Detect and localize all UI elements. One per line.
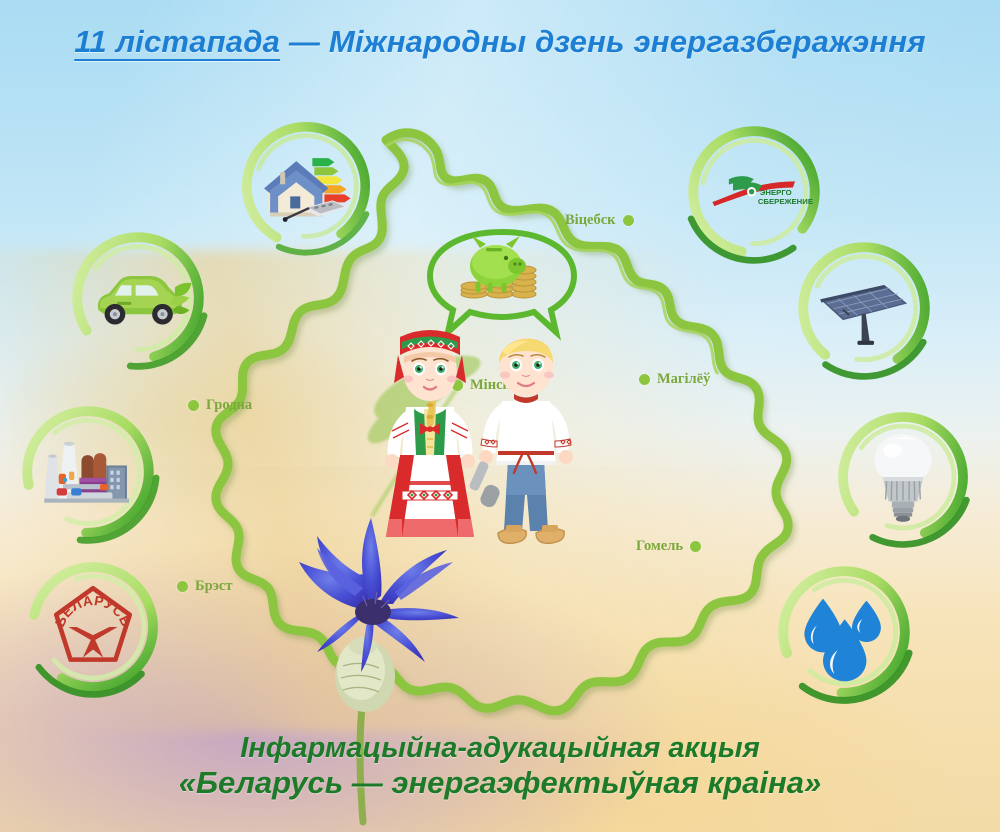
solar-pole [862,314,870,343]
svg-text:БЕЛАРУСЬ: БЕЛАРУСЬ [52,593,134,629]
city-name: Брэст [195,578,232,595]
city-label-4: Гомель [636,538,701,555]
campaign-line-2: «Беларусь — энергаэфектыўная краіна» [0,765,1000,802]
city-label-5: Брэст [177,578,232,595]
led-bulb-icon [852,426,954,528]
icon-ring-solar-panel[interactable] [788,232,940,384]
city-name: Гродна [206,397,252,414]
icon-ring-belarus-quality-mark[interactable]: БЕЛАРУСЬ [18,552,168,702]
city-label-1: Гродна [188,397,252,414]
city-dot-icon [690,541,701,552]
energosberezhenie-logo-icon: ЭНЕРГО СБЕРЕЖЕНИЕ [702,140,805,243]
title-date: 11 лістапада [74,24,280,59]
city-name: Віцебск [565,212,616,229]
eco-car-icon [86,246,189,349]
city-name: Магілёў [657,371,710,388]
eco-leaves-icon [171,283,192,314]
title-rest: — Міжнародны дзень энергазберажэння [280,24,926,59]
city-dot-icon [623,215,634,226]
bulb-base [892,501,914,521]
page-title-top: 11 лістапада — Міжнародны дзень энергазб… [0,24,1000,60]
icon-ring-water-drops[interactable] [768,556,920,708]
quality-mark-label: БЕЛАРУСЬ [52,593,134,629]
energy-efficient-house-icon [256,136,357,237]
water-drops-icon [792,580,895,683]
power-plant-icon [36,420,139,523]
city-label-0: Віцебск [565,212,634,229]
storage-tanks [80,453,109,498]
solar-panel-icon [812,256,915,359]
icon-ring-led-bulb[interactable] [828,402,978,552]
bulb-glass [874,434,931,477]
city-dot-icon [639,374,650,385]
campaign-line-1: Інфармацыйна-адукацыйная акцыя [0,731,1000,765]
logo-line-2: СБЕРЕЖЕНИЕ [758,197,813,206]
belarus-quality-mark-icon: БЕЛАРУСЬ [42,576,144,678]
logo-line-1: ЭНЕРГО [760,188,792,197]
poster-canvas: 11 лістапада — Міжнародны дзень энергазб… [0,0,1000,832]
icon-ring-energy-efficient-house[interactable] [232,112,380,260]
city-name: Гомель [636,538,683,555]
icon-ring-power-plant[interactable] [12,396,164,548]
city-label-3: Магілёў [639,371,710,388]
bulb-heatsink [883,477,924,501]
city-dot-icon [188,400,199,411]
green-car [98,276,182,325]
quality-mark-emblem [69,627,118,658]
icon-ring-eco-car[interactable] [62,222,214,374]
page-title-bottom: Інфармацыйна-адукацыйная акцыя «Беларусь… [0,731,1000,802]
city-dot-icon [177,581,188,592]
